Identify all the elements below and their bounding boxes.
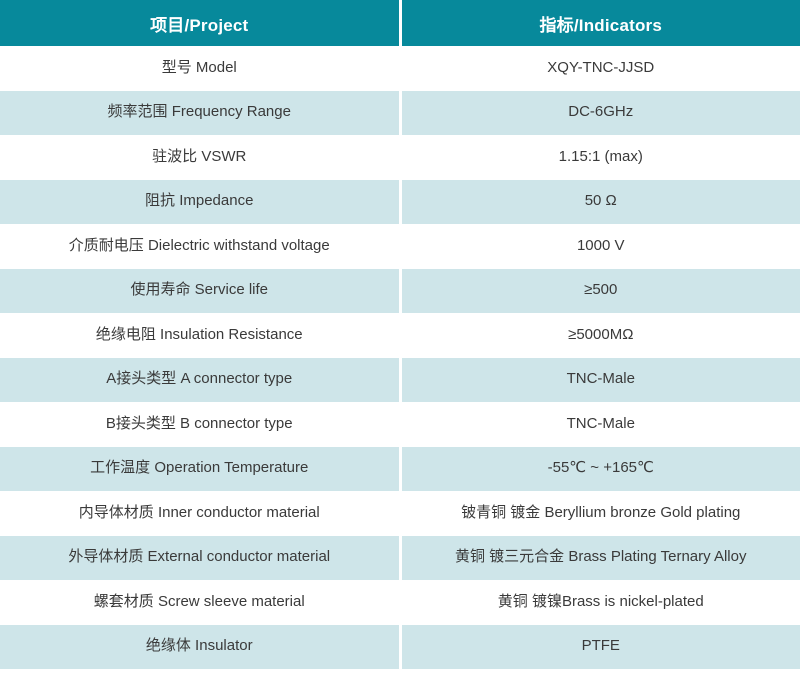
cell-indicator: TNC-Male [400,402,800,447]
table-row: 频率范围 Frequency RangeDC-6GHz [0,91,800,136]
cell-project: 驻波比 VSWR [0,135,400,180]
cell-project: 外导体材质 External conductor material [0,536,400,581]
table-header-row: 项目/Project 指标/Indicators [0,0,800,46]
column-header-project: 项目/Project [0,0,400,46]
table-row: 型号 ModelXQY-TNC-JJSD [0,46,800,91]
cell-project: 型号 Model [0,46,400,91]
cell-indicator: 铍青铜 镀金 Beryllium bronze Gold plating [400,491,800,536]
table-row: 工作温度 Operation Temperature-55℃ ~ +165℃ [0,447,800,492]
table-row: 介质耐电压 Dielectric withstand voltage1000 V [0,224,800,269]
cell-indicator: 黄铜 镀三元合金 Brass Plating Ternary Alloy [400,536,800,581]
table-row: B接头类型 B connector typeTNC-Male [0,402,800,447]
cell-project: 内导体材质 Inner conductor material [0,491,400,536]
table-row: 螺套材质 Screw sleeve material黄铜 镀镍Brass is … [0,580,800,625]
cell-project: 频率范围 Frequency Range [0,91,400,136]
cell-indicator: 1.15:1 (max) [400,135,800,180]
table-row: 绝缘体 InsulatorPTFE [0,625,800,670]
table-row: 绝缘电阻 Insulation Resistance≥5000MΩ [0,313,800,358]
cell-project: 螺套材质 Screw sleeve material [0,580,400,625]
table-row: 内导体材质 Inner conductor material铍青铜 镀金 Ber… [0,491,800,536]
cell-indicator: XQY-TNC-JJSD [400,46,800,91]
table-row: 外导体材质 External conductor material黄铜 镀三元合… [0,536,800,581]
table-row: 驻波比 VSWR1.15:1 (max) [0,135,800,180]
cell-project: B接头类型 B connector type [0,402,400,447]
cell-indicator: TNC-Male [400,358,800,403]
cell-indicator: -55℃ ~ +165℃ [400,447,800,492]
cell-indicator: ≥5000MΩ [400,313,800,358]
cell-project: 绝缘电阻 Insulation Resistance [0,313,400,358]
table-body: 型号 ModelXQY-TNC-JJSD频率范围 Frequency Range… [0,46,800,669]
cell-indicator: 50 Ω [400,180,800,225]
cell-indicator: DC-6GHz [400,91,800,136]
specification-table: 项目/Project 指标/Indicators 型号 ModelXQY-TNC… [0,0,800,669]
table-row: 使用寿命 Service life≥500 [0,269,800,314]
table-header: 项目/Project 指标/Indicators [0,0,800,46]
cell-project: 绝缘体 Insulator [0,625,400,670]
cell-indicator: 1000 V [400,224,800,269]
cell-indicator: 黄铜 镀镍Brass is nickel-plated [400,580,800,625]
column-header-indicator: 指标/Indicators [400,0,800,46]
cell-project: 介质耐电压 Dielectric withstand voltage [0,224,400,269]
cell-indicator: ≥500 [400,269,800,314]
cell-project: A接头类型 A connector type [0,358,400,403]
cell-project: 工作温度 Operation Temperature [0,447,400,492]
cell-project: 阻抗 Impedance [0,180,400,225]
cell-indicator: PTFE [400,625,800,670]
table-row: 阻抗 Impedance50 Ω [0,180,800,225]
table-row: A接头类型 A connector typeTNC-Male [0,358,800,403]
cell-project: 使用寿命 Service life [0,269,400,314]
